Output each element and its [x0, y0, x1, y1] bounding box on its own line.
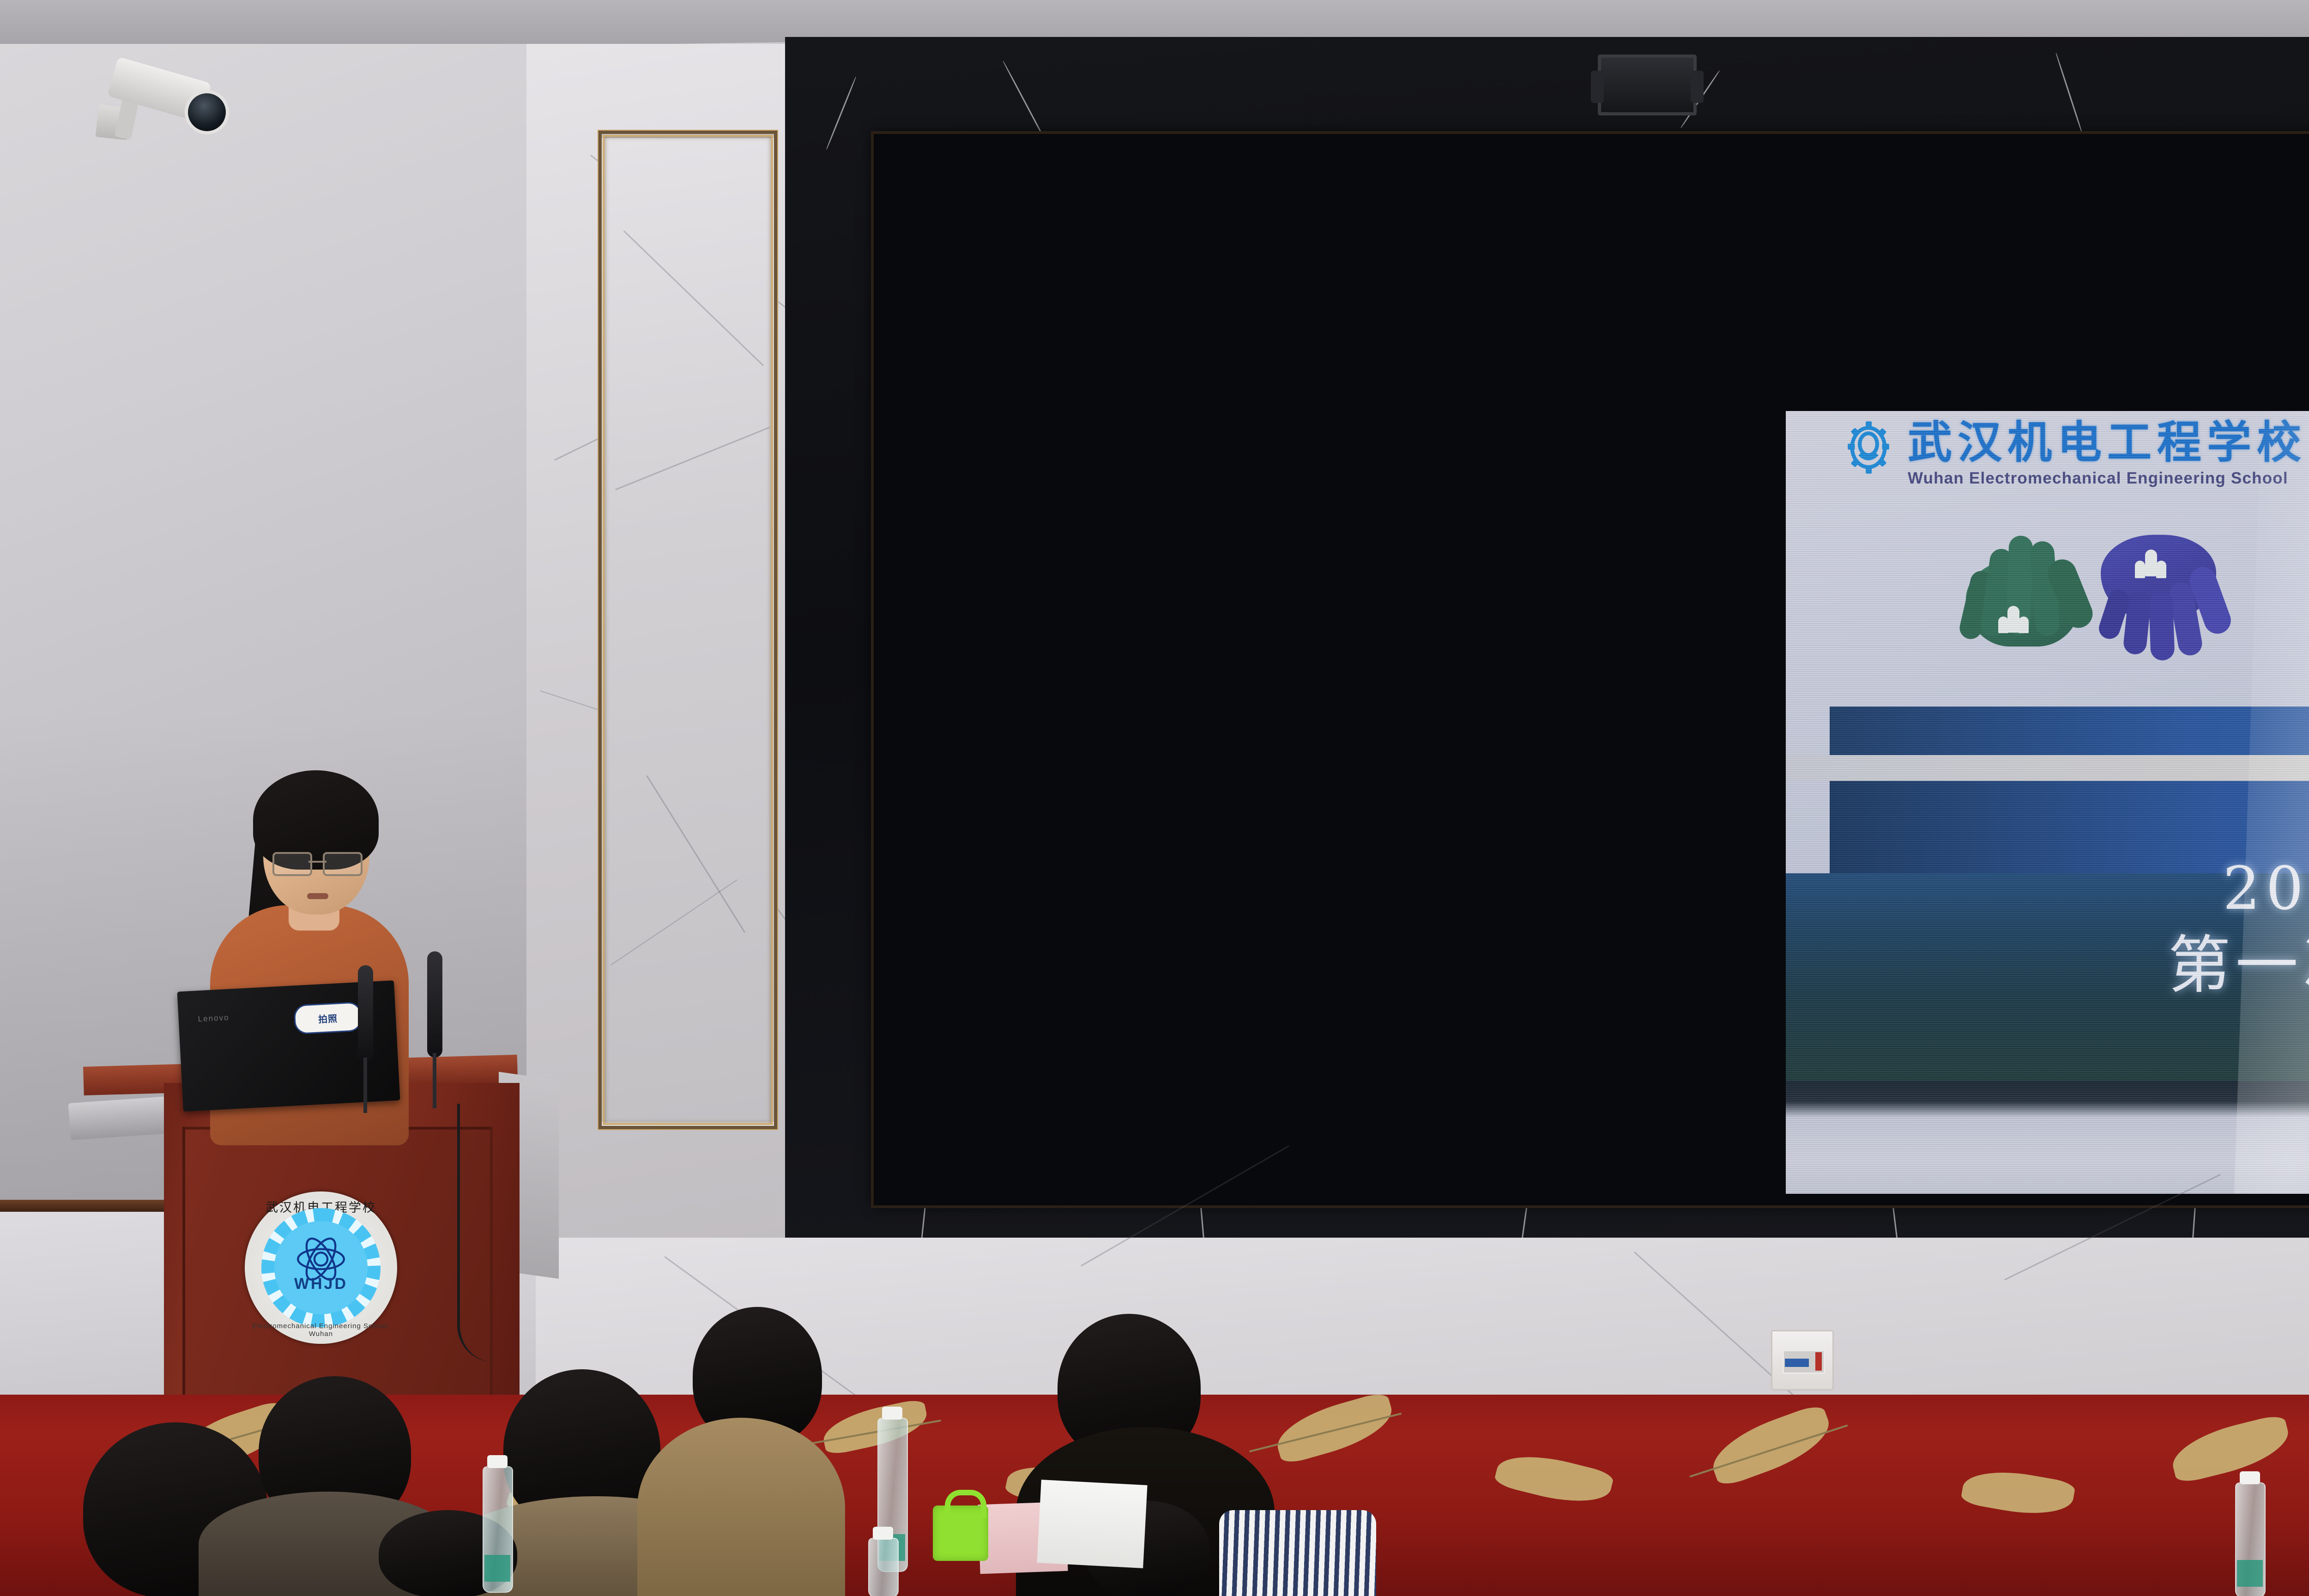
bottle-label: [2237, 1560, 2263, 1587]
audience-striped-shirt: [1219, 1510, 1376, 1596]
slide-school-logo: 武汉机电工程学校 Wuhan Electromechanical Enginee…: [1841, 420, 2307, 488]
laptop-sticker: 拍照: [293, 1002, 362, 1035]
water-bottle[interactable]: [2235, 1482, 2266, 1596]
water-bottle[interactable]: [483, 1466, 513, 1593]
white-paper: [1037, 1480, 1147, 1568]
marble-wall-panel: [602, 134, 774, 1126]
green-bag: [933, 1505, 988, 1561]
emblem-core: WHJD: [274, 1221, 368, 1314]
breaker-switch-blue: [1785, 1359, 1809, 1367]
presenter-mouth: [307, 893, 328, 899]
slide-school-name-cn: 武汉机电工程学校: [1908, 420, 2307, 465]
bottle-cap: [2240, 1471, 2260, 1484]
conference-room-photo: 武汉机电工程学校 Wuhan Electromechanical Enginee…: [0, 0, 2309, 1596]
emblem-abbreviation: WHJD: [274, 1275, 368, 1293]
bottle-label: [484, 1555, 510, 1582]
breaker-switch-red: [1815, 1352, 1822, 1371]
audience-shoulders: [637, 1418, 845, 1596]
slide-title-line2: 第一次家长委员会会议: [1786, 914, 2309, 1005]
mic-head: [358, 965, 373, 1062]
mic-stem: [433, 1053, 436, 1108]
emblem-school-name-en: Electromechanical Engineering School, Wu…: [245, 1322, 397, 1338]
gear-atom-icon: [1841, 420, 1896, 475]
slide-footer-band: [1786, 1081, 2309, 1194]
laptop-brand-label: Lenovo: [198, 1013, 230, 1024]
mic-head: [427, 951, 442, 1058]
presentation-slide: 武汉机电工程学校 Wuhan Electromechanical Enginee…: [1786, 411, 2309, 1194]
bottle-cap: [487, 1455, 508, 1468]
water-bottle[interactable]: [868, 1538, 899, 1596]
two-hands-graphic: [1957, 522, 2243, 647]
mic-stem: [363, 1058, 367, 1113]
slide-school-name-en: Wuhan Electromechanical Engineering Scho…: [1908, 469, 2307, 488]
laptop-sticker-text: 拍照: [318, 1011, 338, 1025]
breaker-window: [1783, 1350, 1825, 1374]
presenter-glasses: [272, 852, 363, 872]
slide-title-line1: 2018-2019学年度: [1786, 840, 2309, 926]
mic-cable: [457, 1104, 520, 1362]
projection-screen: 武汉机电工程学校 Wuhan Electromechanical Enginee…: [874, 134, 2309, 1205]
slide-band-upper: [1830, 707, 2309, 755]
slide-band-divider: [1786, 755, 2309, 781]
bottle-cap: [873, 1527, 893, 1540]
gear-atom-seal-icon: 武汉机电工程学校 WHJD Electromechanical Engineer…: [245, 1191, 397, 1344]
screen-bracket-icon: [1598, 54, 1697, 115]
electrical-breaker-box-icon[interactable]: [1771, 1330, 1834, 1390]
bottle-cap: [882, 1407, 902, 1420]
blue-finger: [2148, 591, 2175, 661]
